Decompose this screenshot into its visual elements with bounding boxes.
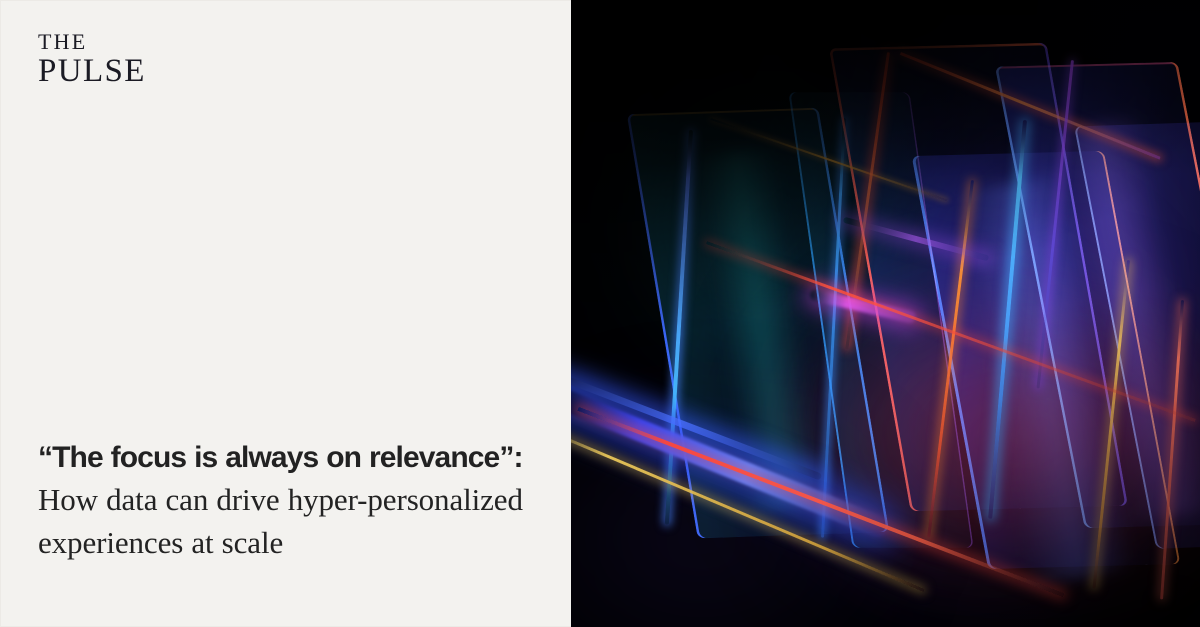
article-headline[interactable]: “The focus is always on relevance”: How … (38, 436, 531, 565)
hero-image-artwork (571, 0, 1200, 627)
brand-line-the: THE (38, 30, 146, 53)
brand-logo[interactable]: THE PULSE (38, 30, 146, 89)
brand-line-pulse: PULSE (38, 54, 146, 89)
headline-rest: How data can drive hyper-personalized ex… (38, 482, 523, 560)
text-pane: THE PULSE “The focus is always on releva… (0, 0, 571, 627)
hero-image (571, 0, 1200, 627)
article-promo-card: THE PULSE “The focus is always on releva… (0, 0, 1200, 627)
headline-quote: “The focus is always on relevance”: (38, 441, 523, 474)
